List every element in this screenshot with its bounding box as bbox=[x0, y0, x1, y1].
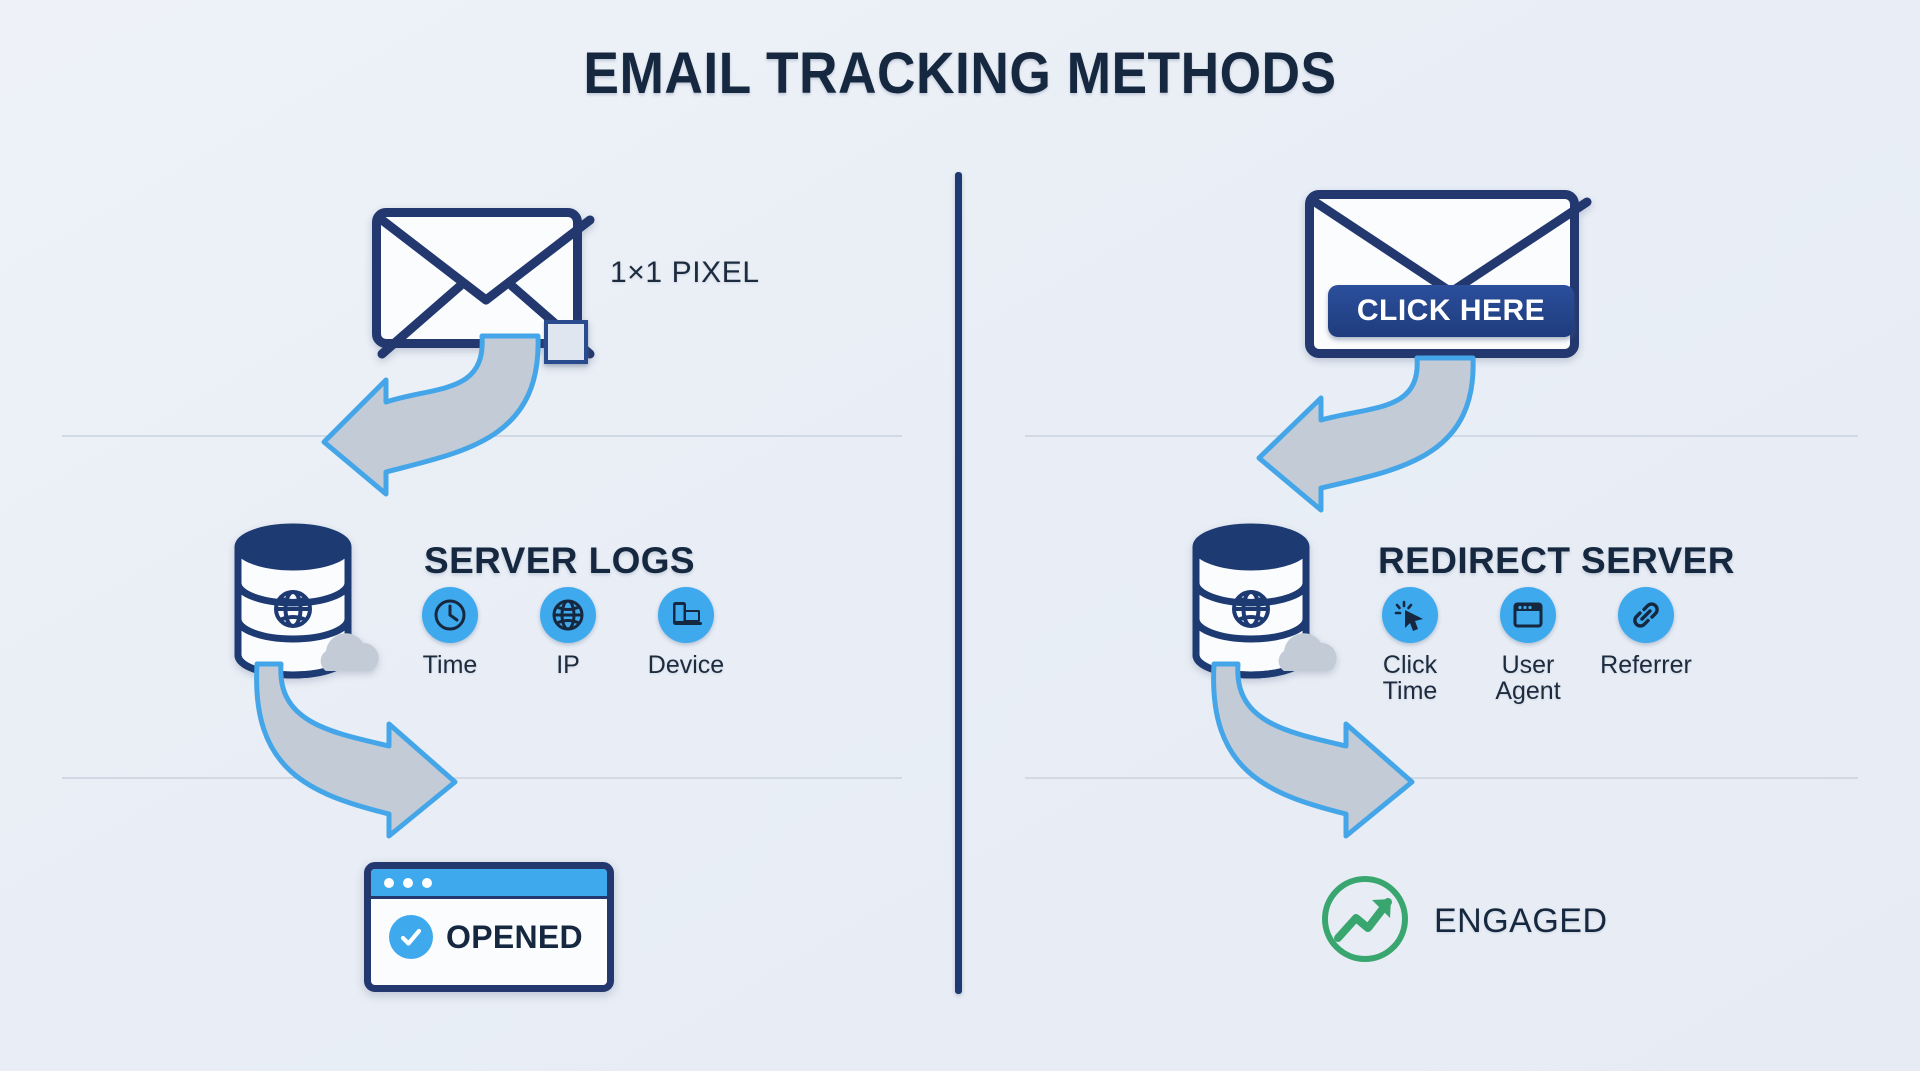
envelope-icon bbox=[372, 208, 582, 348]
data-point-referrer: Referrer bbox=[1604, 587, 1688, 705]
browser-icon bbox=[1500, 587, 1556, 643]
check-circle-icon bbox=[389, 915, 433, 959]
devices-icon bbox=[658, 587, 714, 643]
data-point-label: Device bbox=[648, 652, 724, 678]
left-source-group: 1×1 PIXEL bbox=[372, 208, 582, 348]
page-title: EMAIL TRACKING METHODS bbox=[77, 40, 1843, 107]
clock-icon bbox=[422, 587, 478, 643]
vertical-panel-divider bbox=[955, 172, 962, 994]
arrow-source-to-server bbox=[250, 330, 570, 520]
arrow-redirect-to-result bbox=[1222, 660, 1512, 840]
right-processor-group bbox=[1188, 525, 1318, 677]
result-label: ENGAGED bbox=[1434, 902, 1608, 941]
left-processor-group bbox=[230, 525, 360, 677]
data-point-label: IP bbox=[556, 652, 580, 678]
envelope-icon: CLICK HERE bbox=[1305, 190, 1579, 358]
arrow-server-to-result bbox=[265, 660, 555, 840]
link-icon bbox=[1618, 587, 1674, 643]
browser-titlebar bbox=[371, 869, 607, 899]
arrow-source-to-redirect bbox=[1185, 352, 1505, 532]
click-here-button[interactable]: CLICK HERE bbox=[1328, 285, 1574, 337]
trending-up-circle-icon bbox=[1318, 872, 1412, 971]
left-processor-title: SERVER LOGS bbox=[424, 540, 695, 582]
browser-window-icon: OPENED bbox=[364, 862, 614, 992]
globe-icon bbox=[540, 587, 596, 643]
cursor-click-icon bbox=[1382, 587, 1438, 643]
left-result-group: OPENED bbox=[364, 862, 614, 992]
data-point-label: Referrer bbox=[1600, 652, 1692, 678]
database-icon bbox=[1188, 525, 1318, 677]
browser-content: OPENED bbox=[371, 899, 607, 959]
right-processor-title: REDIRECT SERVER bbox=[1378, 540, 1735, 582]
pixel-label: 1×1 PIXEL bbox=[610, 256, 760, 290]
window-dot bbox=[403, 878, 413, 888]
right-result-group: ENGAGED bbox=[1318, 872, 1608, 971]
database-icon bbox=[230, 525, 360, 677]
data-point-device: Device bbox=[644, 587, 728, 678]
right-source-group: CLICK HERE bbox=[1305, 190, 1579, 358]
window-dot bbox=[422, 878, 432, 888]
result-label: OPENED bbox=[446, 919, 583, 956]
window-dot bbox=[384, 878, 394, 888]
diagram-canvas: EMAIL TRACKING METHODS 1×1 PIXEL bbox=[0, 0, 1920, 1071]
